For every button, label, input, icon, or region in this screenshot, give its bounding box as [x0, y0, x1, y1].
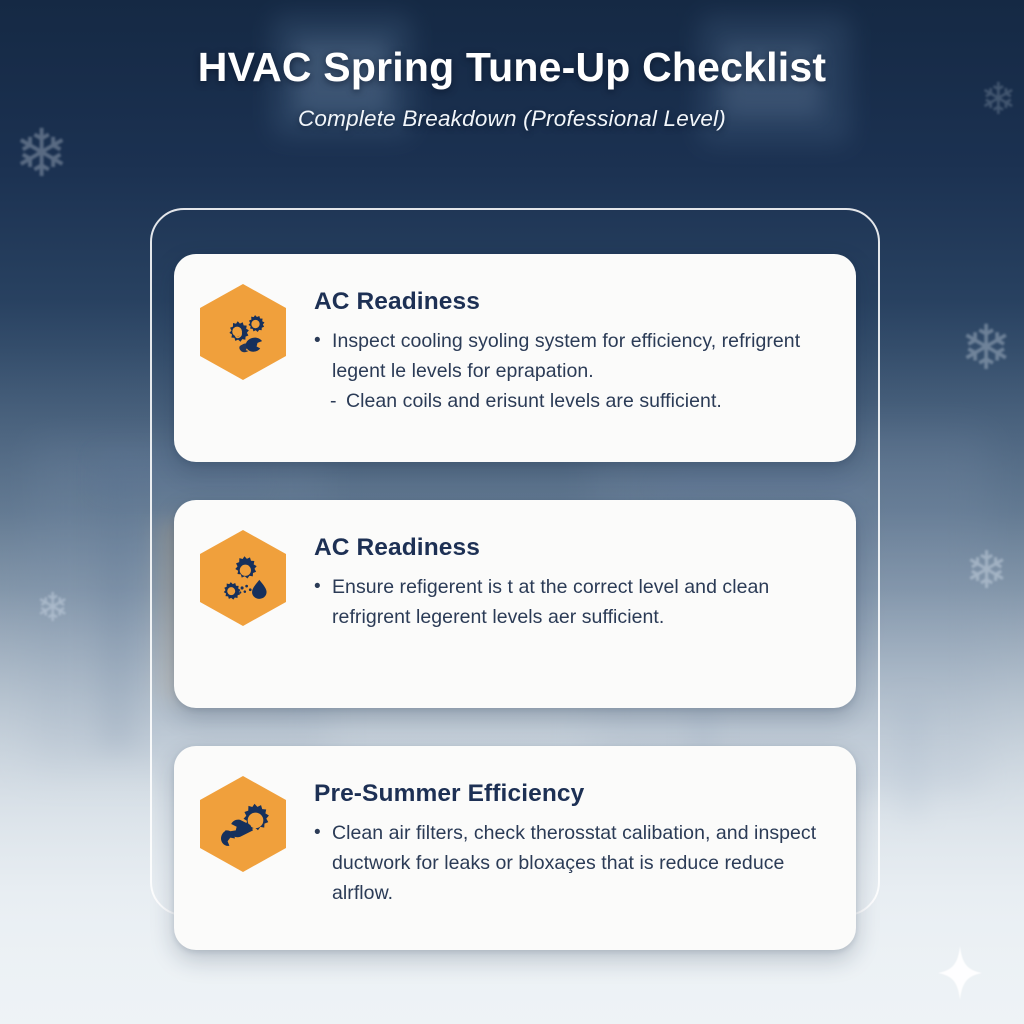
card-icon-badge — [200, 530, 286, 626]
card-body: AC Readiness Inspect cooling syoling sys… — [314, 284, 826, 416]
card-body: AC Readiness Ensure refigerent is t at t… — [314, 530, 826, 632]
four-point-sparkle-icon — [938, 946, 982, 1000]
card-icon-badge — [200, 776, 286, 872]
page-title: HVAC Spring Tune-Up Checklist — [0, 44, 1024, 91]
card-title: AC Readiness — [314, 288, 826, 316]
snowflake-icon: ❄ — [965, 545, 1009, 597]
gear-wrench-icon — [214, 795, 272, 853]
gears-wrench-icon — [214, 303, 272, 361]
card-title: Pre-Summer Efficiency — [314, 780, 826, 808]
card-bullet-list: Ensure refigerent is t at the correct le… — [314, 572, 826, 632]
card-bullet-list: Inspect cooling syoling system for effic… — [314, 326, 826, 416]
page-subtitle: Complete Breakdown (Professional Level) — [0, 106, 1024, 132]
list-item: Clean air filters, check therosstat cali… — [314, 818, 826, 908]
poster-header: HVAC Spring Tune-Up Checklist Complete B… — [0, 44, 1024, 132]
list-item: Ensure refigerent is t at the correct le… — [314, 572, 826, 632]
snowflake-icon: ❄ — [36, 588, 70, 628]
list-item: Clean coils and erisunt levels are suffi… — [314, 386, 826, 416]
list-item: Inspect cooling syoling system for effic… — [314, 326, 826, 386]
checklist-card[interactable]: Pre-Summer Efficiency Clean air filters,… — [174, 746, 856, 950]
card-title: AC Readiness — [314, 534, 826, 562]
checklist-card-list: AC Readiness Inspect cooling syoling sys… — [174, 254, 856, 950]
checklist-card[interactable]: AC Readiness Ensure refigerent is t at t… — [174, 500, 856, 708]
card-body: Pre-Summer Efficiency Clean air filters,… — [314, 776, 826, 908]
card-bullet-list: Clean air filters, check therosstat cali… — [314, 818, 826, 908]
gears-droplet-icon — [214, 549, 272, 607]
checklist-card[interactable]: AC Readiness Inspect cooling syoling sys… — [174, 254, 856, 462]
snowflake-icon: ❄ — [960, 318, 1012, 380]
poster-canvas: ❄ ❄ ❄ ❄ ❄ HVAC Spring Tune-Up Checklist … — [0, 0, 1024, 1024]
card-icon-badge — [200, 284, 286, 380]
